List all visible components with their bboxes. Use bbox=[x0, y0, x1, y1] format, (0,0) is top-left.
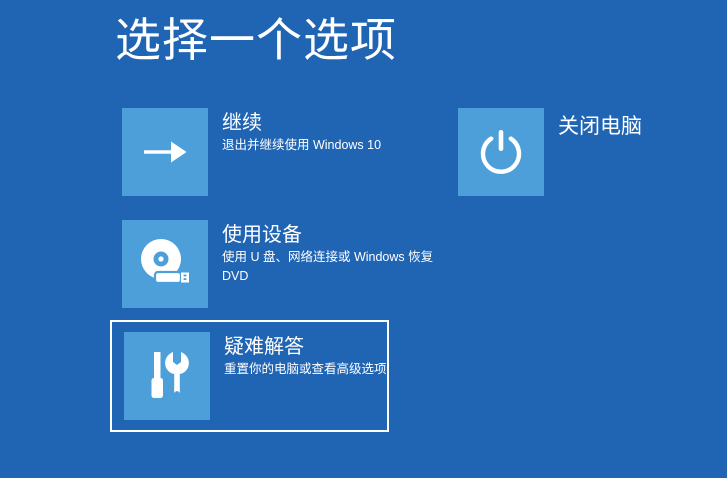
power-icon bbox=[475, 126, 527, 178]
option-continue-tile bbox=[122, 108, 208, 196]
option-use-device-subtitle: 使用 U 盘、网络连接或 Windows 恢复 DVD bbox=[222, 248, 436, 286]
option-continue[interactable]: 继续 退出并继续使用 Windows 10 bbox=[122, 108, 381, 196]
option-troubleshoot-tile bbox=[124, 332, 210, 420]
option-turn-off-pc-tile bbox=[458, 108, 544, 196]
option-continue-subtitle: 退出并继续使用 Windows 10 bbox=[222, 136, 381, 155]
screwdriver-wrench-icon bbox=[142, 348, 192, 404]
option-use-device-heading: 使用设备 bbox=[222, 222, 436, 248]
option-use-device-tile bbox=[122, 220, 208, 308]
disc-usb-icon bbox=[136, 237, 194, 291]
recovery-options-screen: 选择一个选项 继续 退出并继续使用 Windows 10 bbox=[0, 0, 727, 478]
option-troubleshoot-subtitle: 重置你的电脑或查看高级选项 bbox=[224, 360, 387, 379]
option-use-device-text: 使用设备 使用 U 盘、网络连接或 Windows 恢复 DVD bbox=[222, 220, 436, 286]
option-continue-text: 继续 退出并继续使用 Windows 10 bbox=[222, 108, 381, 155]
option-troubleshoot-heading: 疑难解答 bbox=[224, 334, 387, 360]
option-troubleshoot-text: 疑难解答 重置你的电脑或查看高级选项 bbox=[224, 332, 387, 379]
option-use-device[interactable]: 使用设备 使用 U 盘、网络连接或 Windows 恢复 DVD bbox=[122, 220, 436, 308]
arrow-right-icon bbox=[141, 133, 189, 171]
option-continue-heading: 继续 bbox=[222, 110, 381, 136]
option-turn-off-pc[interactable]: 关闭电脑 bbox=[458, 108, 642, 196]
page-title: 选择一个选项 bbox=[115, 8, 397, 72]
option-troubleshoot[interactable]: 疑难解答 重置你的电脑或查看高级选项 bbox=[110, 320, 389, 432]
option-turn-off-pc-label: 关闭电脑 bbox=[558, 108, 642, 142]
